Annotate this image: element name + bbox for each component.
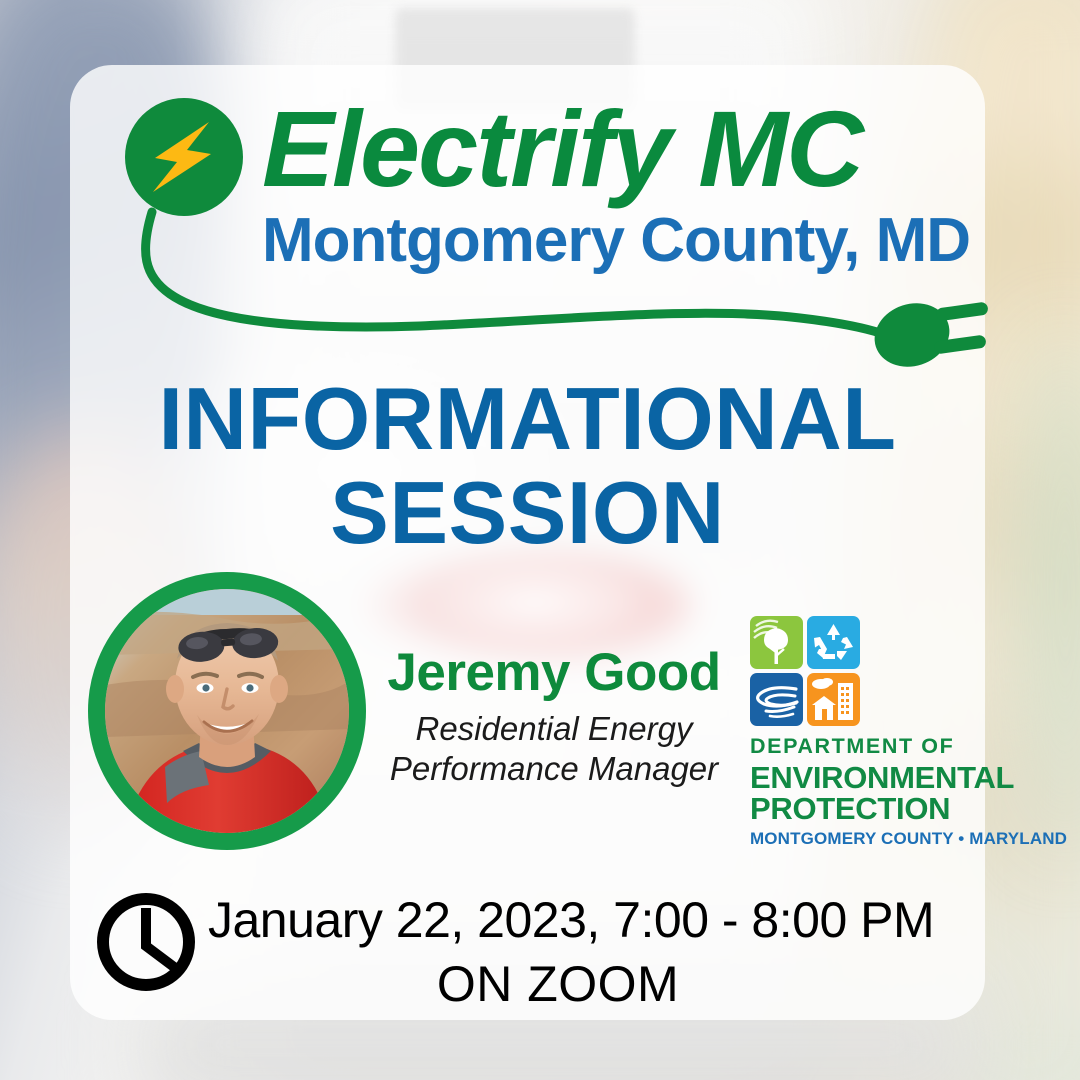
clock-icon	[92, 888, 200, 996]
dep-icon-grid	[750, 616, 860, 726]
event-date-time: January 22, 2023, 7:00 - 8:00 PM	[208, 893, 908, 947]
dep-logo: DEPARTMENT OF ENVIRONMENTAL PROTECTION M…	[750, 616, 972, 847]
poster-canvas: Electrify MC Montgomery County, MD INFOR…	[0, 0, 1080, 1080]
speaker-photo	[105, 589, 349, 833]
speaker-role-line-2: Performance Manager	[378, 749, 730, 789]
speaker-name: Jeremy Good	[378, 645, 730, 701]
speaker-role-line-1: Residential Energy	[378, 709, 730, 749]
tree-icon	[750, 616, 803, 669]
dep-line-2a: ENVIRONMENTAL	[750, 762, 972, 794]
buildings-icon	[807, 673, 860, 726]
page-title: INFORMATIONAL SESSION	[70, 372, 985, 560]
speaker-avatar	[88, 572, 366, 850]
speaker-info: Jeremy Good Residential Energy Performan…	[378, 645, 730, 789]
dep-line-3: MONTGOMERY COUNTY • MARYLAND	[750, 830, 972, 847]
event-details: January 22, 2023, 7:00 - 8:00 PM ON ZOOM	[208, 893, 908, 1011]
dep-line-1: DEPARTMENT OF	[750, 736, 972, 758]
recycling-icon	[807, 616, 860, 669]
speaker-role: Residential Energy Performance Manager	[378, 709, 730, 790]
event-location: ON ZOOM	[208, 957, 908, 1011]
dep-line-2: ENVIRONMENTAL PROTECTION	[750, 762, 972, 825]
water-waves-icon	[750, 673, 803, 726]
dep-line-2b: PROTECTION	[750, 793, 972, 825]
headline-line-1: INFORMATIONAL	[70, 372, 985, 466]
headline-line-2: SESSION	[70, 466, 985, 560]
